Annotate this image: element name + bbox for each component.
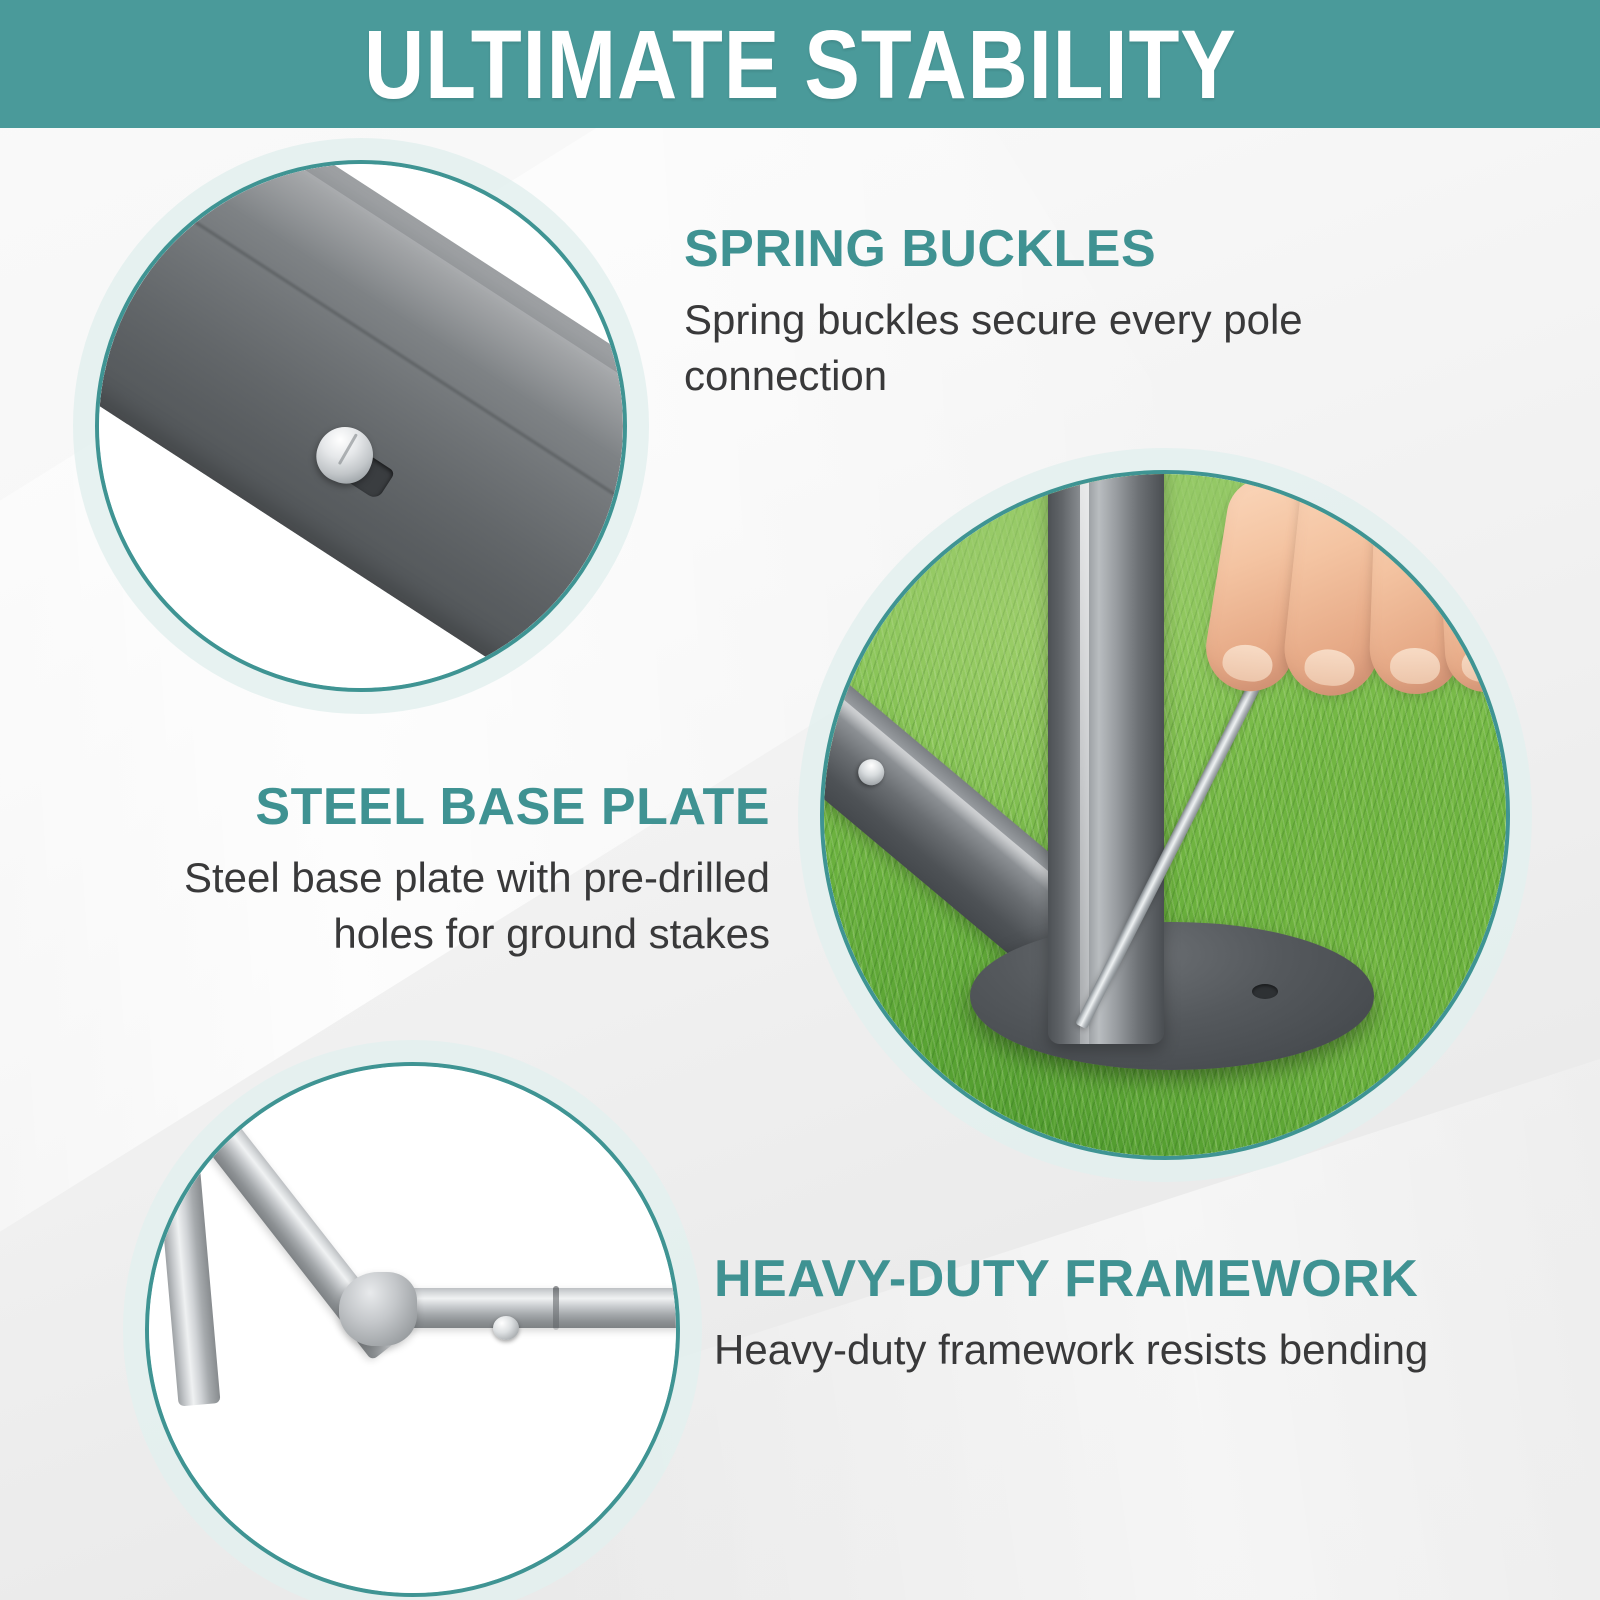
hand-illustration [1196,474,1506,788]
feature-heading: STEEL BASE PLATE [98,780,770,834]
feature-heading: SPRING BUCKLES [684,222,1384,276]
circle-photo [149,1066,676,1593]
feature-body: Steel base plate with pre-drilled holes … [98,850,770,961]
circle-ring [145,1062,680,1597]
circle-photo [99,164,623,688]
steel-base-plate-shape [970,922,1374,1070]
photo-framework-joint [145,1062,680,1597]
feature-spring-buckles: SPRING BUCKLES Spring buckles secure eve… [684,222,1384,403]
steel-pole-shape [99,164,623,688]
pre-drilled-hole [1252,984,1278,999]
grass-scene [824,474,1506,1156]
infographic-canvas: ULTIMATE STABILITY [0,0,1600,1600]
feature-body: Heavy-duty framework resists bending [714,1322,1504,1377]
feature-body: Spring buckles secure every pole connect… [684,292,1384,403]
fingernail [1389,647,1440,685]
photo-spring-buckle-closeup [95,160,627,692]
header-banner: ULTIMATE STABILITY [0,0,1600,128]
tube-connection-seam [553,1286,559,1330]
buckle-scene [99,164,623,688]
finger [1437,494,1506,694]
welded-joint [339,1272,417,1346]
fingernail [1220,641,1275,684]
circle-photo [824,474,1506,1156]
feature-heading: HEAVY-DUTY FRAMEWORK [714,1252,1504,1306]
feature-steel-base-plate: STEEL BASE PLATE Steel base plate with p… [98,780,770,961]
circle-ring [95,160,627,692]
banner-title: ULTIMATE STABILITY [364,16,1237,113]
fingernail [1303,647,1356,688]
spring-button-icon [853,754,890,791]
feature-heavy-duty-framework: HEAVY-DUTY FRAMEWORK Heavy-duty framewor… [714,1252,1504,1378]
circle-ring [820,470,1510,1160]
photo-base-plate-on-grass [820,470,1510,1160]
vertical-pole-shape [1048,474,1164,1044]
spring-button-icon [493,1316,519,1340]
fingernail [1461,645,1506,684]
framework-scene [149,1066,676,1593]
